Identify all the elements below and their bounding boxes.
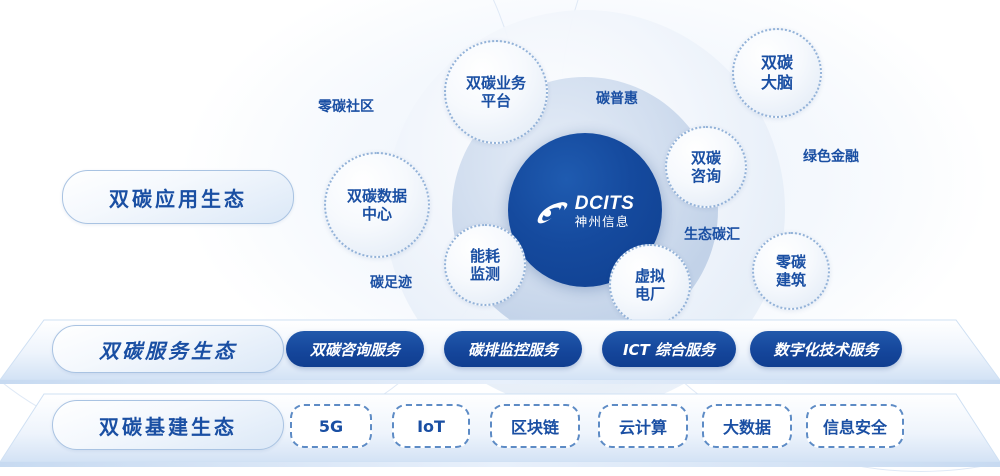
tier-label-service-text: 双碳服务生态 [99,335,237,364]
tier-application: DCITS 神州信息 双碳业务 平台 双碳 大脑 双碳数据 中心 [0,0,1000,320]
bubble-platform-line2: 平台 [466,92,526,110]
logo-text-cn: 神州信息 [575,216,635,229]
bubble-datacenter-line2: 中心 [347,205,407,223]
tier-label-service[interactable]: 双碳服务生态 [52,325,284,373]
bubble-vpp-line1: 虚拟 [635,267,665,285]
bubble-energy-monitor-line1: 能耗 [470,247,500,265]
pill-emission-monitor-text: 碳排监控服务 [468,339,558,360]
bubble-datacenter-line1: 双碳数据 [347,187,407,205]
tier-label-application-text: 双碳应用生态 [109,183,247,212]
label-zero-carbon-community: 零碳社区 [318,96,374,116]
chip-cloud-text: 云计算 [619,414,667,438]
tier-label-infrastructure-text: 双碳基建生态 [99,411,237,440]
label-carbon-inclusion: 碳普惠 [596,88,638,108]
bubble-consulting-line2: 咨询 [691,167,721,185]
bubble-zero-carbon-building-line1: 零碳 [776,253,806,271]
pill-consulting-service[interactable]: 双碳咨询服务 [286,331,424,367]
bubble-energy-monitor-line2: 监测 [470,265,500,283]
tier-infrastructure: 双碳基建生态 5G IoT 区块链 云计算 大数据 信息安全 [0,392,1000,472]
label-eco-carbon-sink: 生态碳汇 [684,224,740,244]
bubble-vpp[interactable]: 虚拟 电厂 [609,244,691,326]
pill-emission-monitor[interactable]: 碳排监控服务 [444,331,582,367]
chip-iot-text: IoT [417,417,445,436]
pill-ict-integrated-text: ICT 综合服务 [623,339,715,360]
chip-security[interactable]: 信息安全 [806,404,904,448]
diagram-canvas: DCITS 神州信息 双碳业务 平台 双碳 大脑 双碳数据 中心 [0,0,1000,476]
bubble-datacenter[interactable]: 双碳数据 中心 [324,152,430,258]
bubble-brain[interactable]: 双碳 大脑 [732,28,822,118]
bubble-brain-line2: 大脑 [761,73,793,93]
label-carbon-footprint: 碳足迹 [370,272,412,292]
bubble-brain-line1: 双碳 [761,53,793,73]
pill-digital-tech-text: 数字化技术服务 [773,339,878,360]
chip-bigdata-text: 大数据 [723,414,771,438]
bubble-zero-carbon-building[interactable]: 零碳 建筑 [752,232,830,310]
logo-text-en: DCITS [575,194,635,213]
bubble-zero-carbon-building-line2: 建筑 [776,271,806,289]
bubble-vpp-line2: 电厂 [635,285,665,303]
bubble-platform-line1: 双碳业务 [466,74,526,92]
chip-iot[interactable]: IoT [392,404,470,448]
pill-digital-tech[interactable]: 数字化技术服务 [750,331,902,367]
pill-ict-integrated[interactable]: ICT 综合服务 [602,331,736,367]
bubble-consulting[interactable]: 双碳 咨询 [665,126,747,208]
tier-label-application[interactable]: 双碳应用生态 [62,170,294,224]
chip-bigdata[interactable]: 大数据 [702,404,792,448]
chip-security-text: 信息安全 [823,414,887,438]
chip-cloud[interactable]: 云计算 [598,404,688,448]
bubble-platform[interactable]: 双碳业务 平台 [444,40,548,144]
tier-service: 双碳服务生态 双碳咨询服务 碳排监控服务 ICT 综合服务 数字化技术服务 [0,318,1000,386]
bubble-consulting-line1: 双碳 [691,149,721,167]
chip-blockchain[interactable]: 区块链 [490,404,580,448]
tier-label-infrastructure[interactable]: 双碳基建生态 [52,400,284,450]
label-green-finance: 绿色金融 [803,146,859,166]
pill-consulting-service-text: 双碳咨询服务 [310,339,400,360]
chip-5g[interactable]: 5G [290,404,372,448]
chip-5g-text: 5G [319,417,343,436]
swirl-galaxy-icon [536,198,570,224]
chip-blockchain-text: 区块链 [511,414,559,438]
bubble-energy-monitor[interactable]: 能耗 监测 [444,224,526,306]
